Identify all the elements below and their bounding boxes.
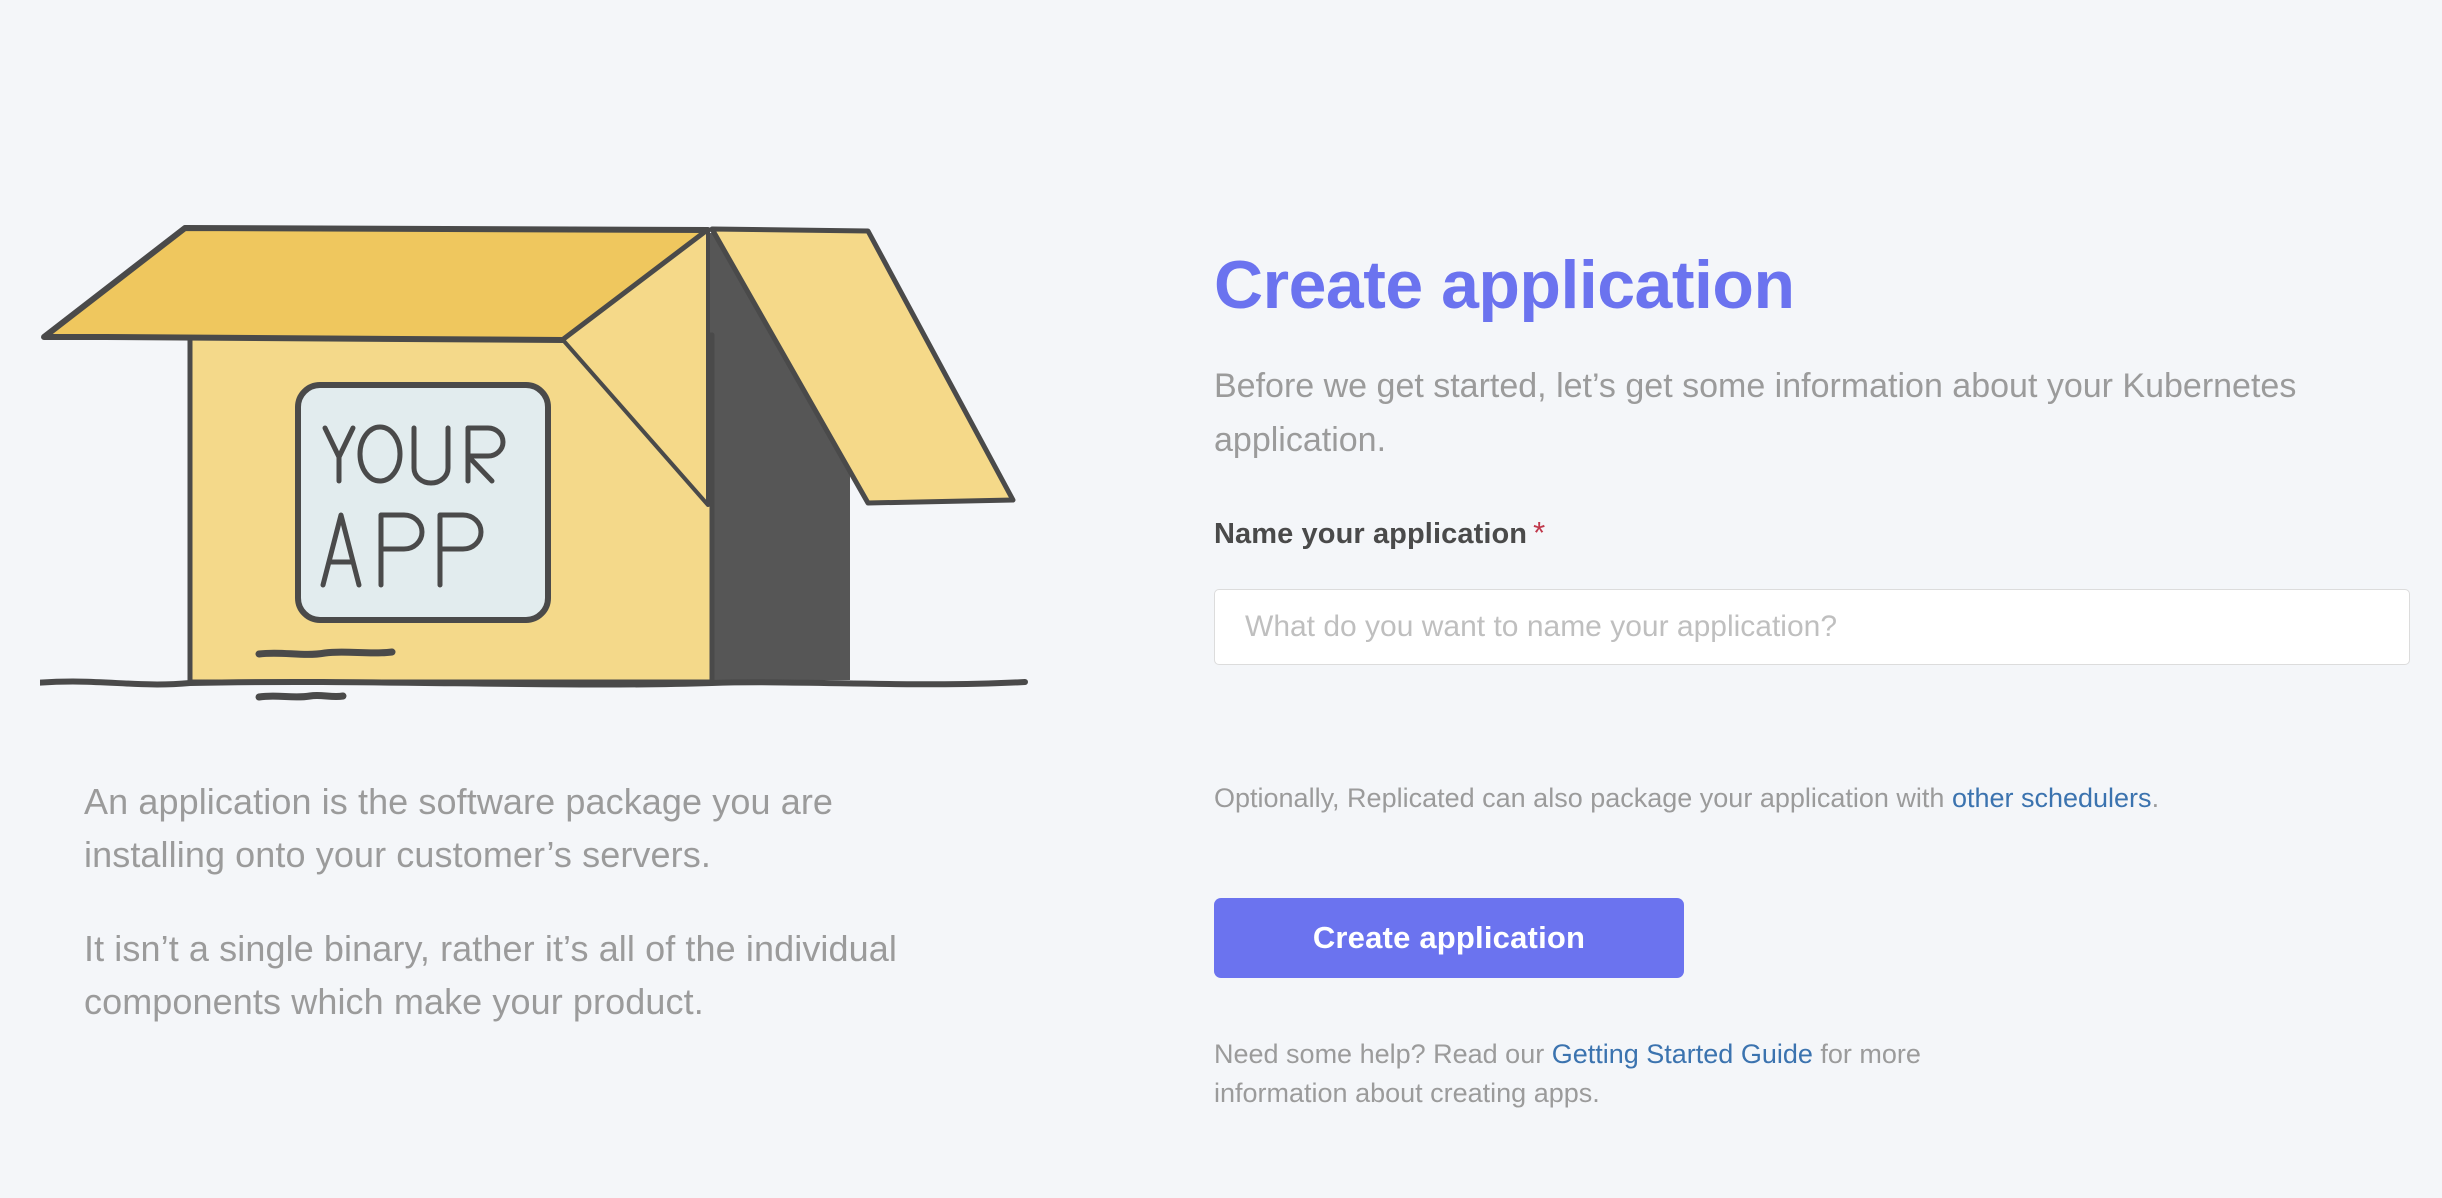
name-field-label-text: Name your application xyxy=(1214,518,1527,550)
required-asterisk: * xyxy=(1533,515,1545,550)
other-schedulers-note-suffix: . xyxy=(2152,783,2160,813)
box-sketch-line-1 xyxy=(259,652,392,654)
box-sketch-line-2 xyxy=(259,695,343,697)
left-info-column: An application is the software package y… xyxy=(0,0,1120,1198)
help-text: Need some help? Read our Getting Started… xyxy=(1214,1035,2014,1113)
ground-line xyxy=(40,682,1025,685)
left-paragraph-1: An application is the software package y… xyxy=(84,775,984,882)
page-subtitle: Before we get started, let’s get some in… xyxy=(1214,360,2349,467)
application-name-input[interactable] xyxy=(1214,589,2410,665)
left-paragraph-2: It isn’t a single binary, rather it’s al… xyxy=(84,922,984,1029)
name-field-label: Name your application* xyxy=(1214,515,1545,551)
cardboard-box-your-app-icon xyxy=(40,185,1040,745)
help-text-prefix: Need some help? Read our xyxy=(1214,1039,1552,1069)
other-schedulers-note-prefix: Optionally, Replicated can also package … xyxy=(1214,783,1952,813)
other-schedulers-link[interactable]: other schedulers xyxy=(1952,783,2152,813)
box-label-rect xyxy=(298,385,548,620)
page-title: Create application xyxy=(1214,251,1795,319)
left-description-text: An application is the software package y… xyxy=(84,775,984,1028)
other-schedulers-note: Optionally, Replicated can also package … xyxy=(1214,780,2159,818)
create-application-page: An application is the software package y… xyxy=(0,0,2442,1198)
cardboard-box-illustration xyxy=(40,185,1040,745)
create-application-button[interactable]: Create application xyxy=(1214,898,1684,978)
getting-started-guide-link[interactable]: Getting Started Guide xyxy=(1552,1039,1813,1069)
